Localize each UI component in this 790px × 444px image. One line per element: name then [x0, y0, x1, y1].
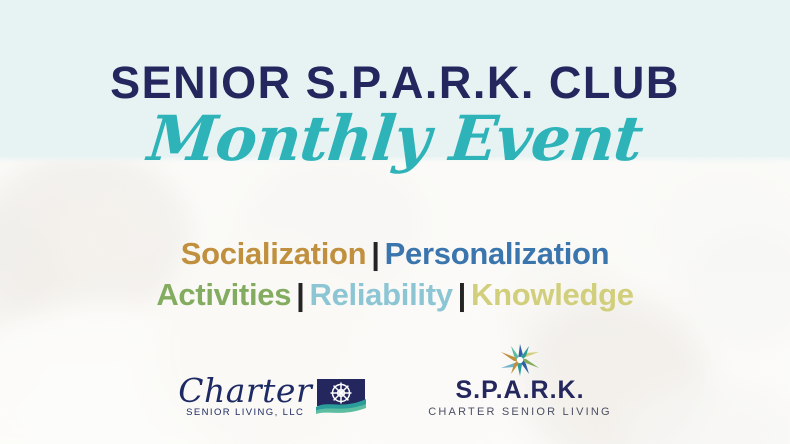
spark-wordmark: S.P.A.R.K. — [428, 378, 612, 403]
spark-logo: S.P.A.R.K. CHARTER SENIOR LIVING — [428, 343, 612, 418]
subtitle-script: Monthly Event — [0, 108, 790, 170]
pillar-socialization: Socialization — [181, 236, 367, 271]
spark-star-icon — [497, 343, 543, 377]
event-flyer-slide: SENIOR S.P.A.R.K. CLUB Monthly Event Soc… — [0, 0, 790, 444]
charter-wordmark-block: Charter SENIOR LIVING, LLC — [178, 375, 312, 418]
charter-tagline: SENIOR LIVING, LLC — [178, 407, 312, 418]
page-title: SENIOR S.P.A.R.K. CLUB — [0, 60, 790, 105]
charter-logo: Charter SENIOR LIVING, LLC — [178, 375, 366, 418]
pillar-word-list: Socialization|Personalization Activities… — [0, 233, 790, 315]
pillar-separator: | — [453, 277, 471, 312]
pillar-separator: | — [291, 277, 309, 312]
pillar-row-1: Socialization|Personalization — [0, 233, 790, 274]
pillar-separator: | — [366, 236, 384, 271]
pillar-personalization: Personalization — [385, 236, 610, 271]
charter-wordmark: Charter — [178, 375, 312, 406]
pillar-activities: Activities — [156, 277, 291, 312]
ships-wheel-icon — [316, 378, 366, 414]
pillar-knowledge: Knowledge — [471, 277, 634, 312]
pillar-row-2: Activities|Reliability|Knowledge — [0, 274, 790, 315]
pillar-reliability: Reliability — [310, 277, 453, 312]
logo-row: Charter SENIOR LIVING, LLC — [0, 343, 790, 418]
spark-tagline: CHARTER SENIOR LIVING — [428, 406, 612, 418]
